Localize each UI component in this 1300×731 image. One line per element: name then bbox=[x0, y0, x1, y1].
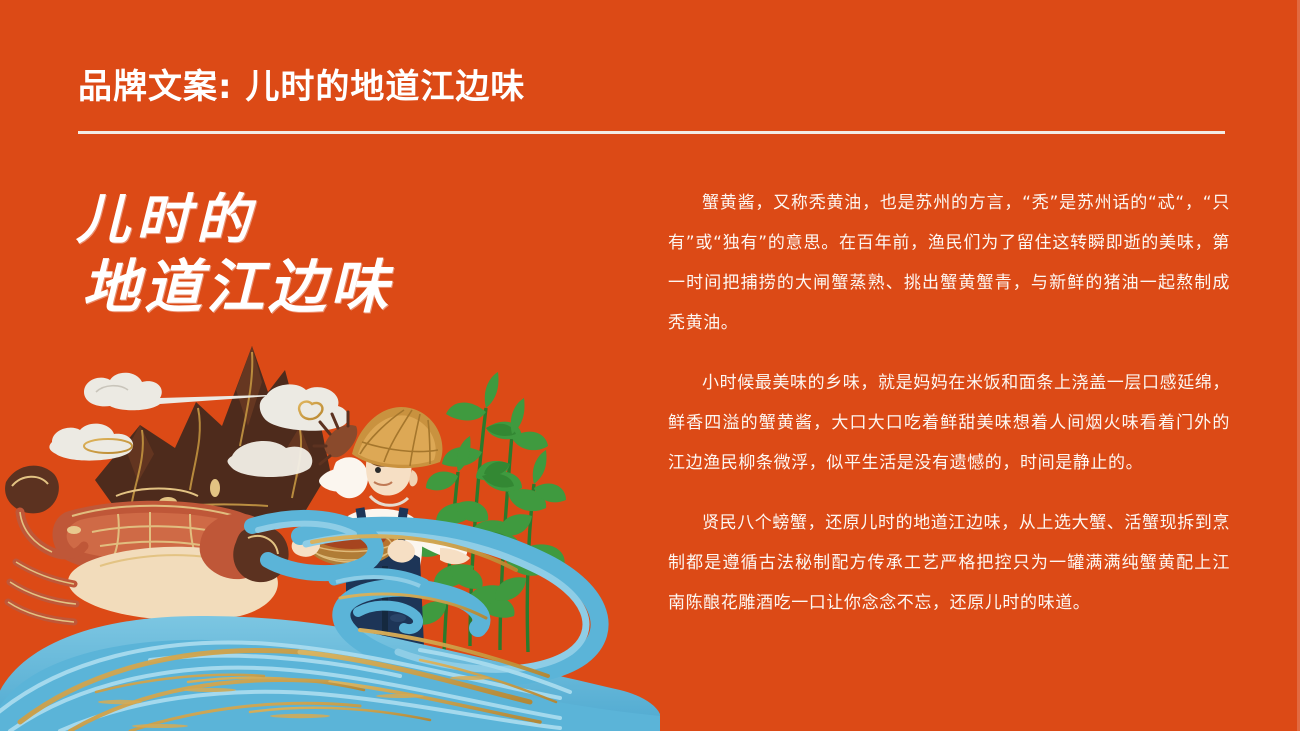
crab bbox=[5, 466, 289, 622]
slide-canvas: 品牌文案: 儿时的地道江边味 儿时的 地道江边味 蟹黄酱，又称秃黄油，也是苏州的… bbox=[0, 0, 1300, 731]
page-title: 品牌文案: 儿时的地道江边味 bbox=[78, 59, 525, 108]
woven-basket bbox=[292, 524, 415, 566]
calligraphy-line-1: 儿时的 bbox=[76, 188, 392, 250]
auspicious-clouds bbox=[49, 373, 348, 477]
fisherman bbox=[292, 407, 470, 652]
body-copy: 蟹黄酱，又称秃黄油，也是苏州的方言，“秃”是苏州话的“忒“，“只有”或“独有”的… bbox=[668, 183, 1230, 623]
mountain-range bbox=[95, 346, 330, 530]
calligraphy-headline: 儿时的 地道江边味 bbox=[76, 188, 392, 322]
straw-hat bbox=[352, 407, 442, 468]
copy-paragraph-3: 贤民八个螃蟹，还原儿时的地道江边味，从上选大蟹、活蟹现拆到烹制都是遵循古法秘制配… bbox=[668, 503, 1230, 623]
title-divider bbox=[78, 131, 1225, 134]
calligraphy-line-2: 地道江边味 bbox=[82, 252, 392, 322]
copy-paragraph-1: 蟹黄酱，又称秃黄油，也是苏州的方言，“秃”是苏州话的“忒“，“只有”或“独有”的… bbox=[668, 183, 1230, 343]
river-waves bbox=[0, 518, 660, 731]
reed-plants bbox=[415, 372, 566, 654]
riverside-fisherman-crab-illustration bbox=[0, 330, 660, 731]
copy-paragraph-2: 小时候最美味的乡味，就是妈妈在米饭和面条上浇盖一层口感延绵，鲜香四溢的蟹黄酱，大… bbox=[668, 363, 1230, 483]
